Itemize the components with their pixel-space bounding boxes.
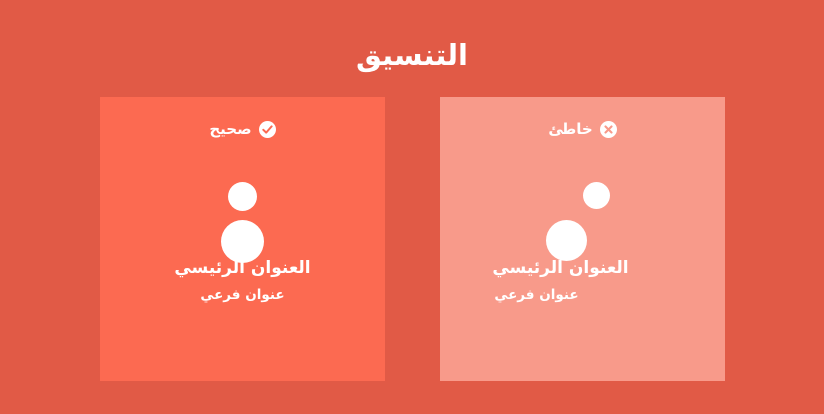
avatar-head-circle: [583, 182, 610, 209]
example-card-correct: صحيح العنوان الرئيسي عنوان فرعي: [100, 97, 385, 381]
status-badge-correct: صحيح: [100, 119, 385, 139]
card-subline-correct: عنوان فرعي: [100, 286, 385, 305]
card-text-block-correct: العنوان الرئيسي عنوان فرعي: [100, 257, 385, 305]
x-circle-icon: [600, 121, 617, 138]
status-label-wrong: خاطئ: [548, 119, 592, 139]
page-title: التنسيق: [0, 36, 824, 74]
example-card-wrong: خاطئ العنوان الرئيسي عنوان فرعي: [440, 97, 725, 381]
avatar-body-circle: [546, 220, 587, 261]
card-headline-wrong: العنوان الرئيسي: [440, 257, 703, 280]
status-label-correct: صحيح: [209, 119, 251, 139]
slide-canvas: التنسيق صحيح العنوان الرئيسي عنوان فرعي: [0, 0, 824, 414]
card-text-block-wrong: العنوان الرئيسي عنوان فرعي: [440, 257, 725, 305]
avatar-head-circle: [228, 182, 257, 211]
status-badge-wrong: خاطئ: [440, 119, 725, 139]
card-subline-wrong: عنوان فرعي: [440, 286, 679, 305]
check-circle-icon: [259, 121, 276, 138]
card-headline-correct: العنوان الرئيسي: [100, 257, 385, 280]
